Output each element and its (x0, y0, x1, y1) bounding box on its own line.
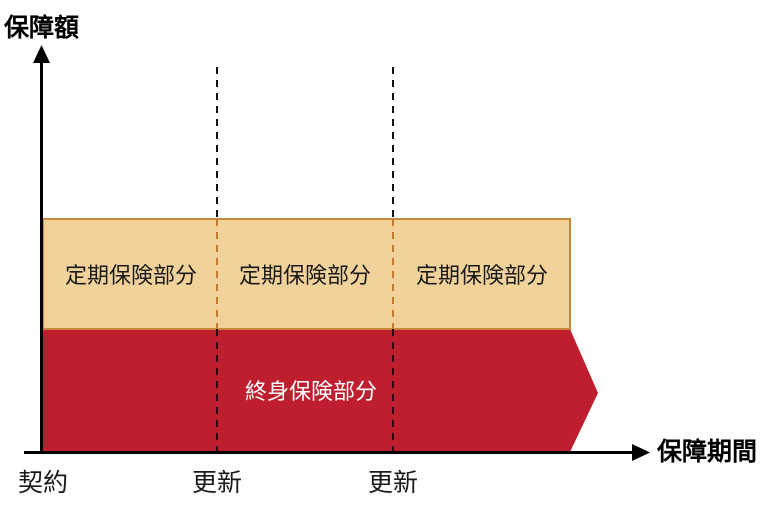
x-axis-arrowhead (632, 444, 650, 461)
y-axis-arrowhead (33, 45, 50, 63)
term-segment-label-3: 定期保険部分 (416, 258, 548, 290)
term-segment-label-1: 定期保険部分 (65, 258, 197, 290)
insurance-structure-diagram: 保障額 保障期間 定期保険部分 定期保険部分 定期保険部分 終身保険部分 契約 … (0, 0, 780, 513)
term-segment-label-2: 定期保険部分 (239, 258, 371, 290)
whole-life-band-label: 終身保険部分 (245, 374, 377, 406)
timeline-marker-renewal-2: 更新 (368, 463, 418, 499)
timeline-marker-contract: 契約 (18, 463, 68, 499)
timeline-marker-renewal-1: 更新 (192, 463, 242, 499)
x-axis-title: 保障期間 (657, 432, 757, 468)
y-axis-title: 保障額 (4, 8, 79, 44)
